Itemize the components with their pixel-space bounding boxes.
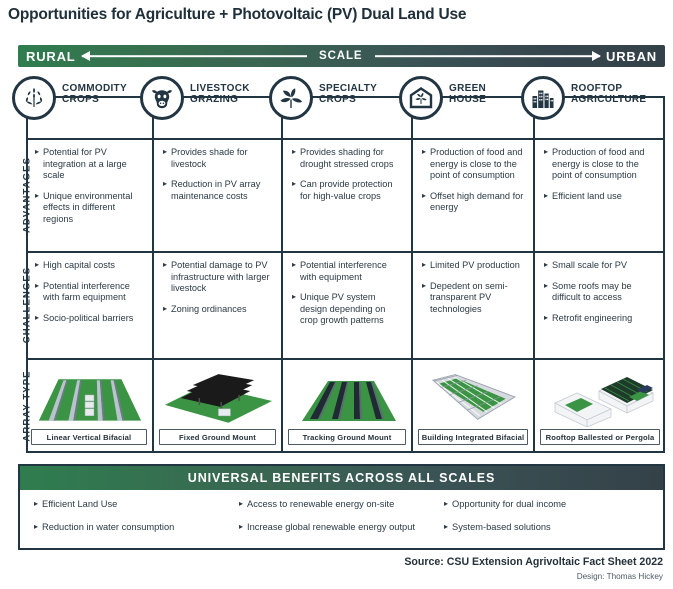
building-integrated-bifacial-thumb: [418, 365, 528, 427]
bullet: Zoning ordinances: [163, 304, 273, 316]
fixed-ground-mount-thumb: [159, 365, 276, 427]
bullet: Unique environmental effects in differen…: [35, 191, 144, 226]
cell-challenges-commodity-crops: High capital costs Potential interferenc…: [26, 253, 154, 358]
wheat-sheaf-icon: [12, 76, 56, 120]
cell-array-green-house: Building Integrated Bifacial: [413, 360, 535, 453]
column-header-commodity-crops[interactable]: COMMODITY CROPS: [26, 96, 154, 138]
bullet: Unique PV system design depending on cro…: [292, 292, 403, 327]
bullet: High capital costs: [35, 260, 144, 272]
bullet: Reduction in water consumption: [34, 522, 239, 534]
bullet: Potential for PV integration at a large …: [35, 147, 144, 182]
array-caption: Linear Vertical Bifacial: [31, 429, 147, 445]
column-header-green-house[interactable]: GREEN HOUSE: [413, 96, 535, 138]
cell-advantages-green-house: Production of food and energy is close t…: [413, 140, 535, 251]
bullet: Retrofit engineering: [544, 313, 657, 325]
bullet: Provides shade for livestock: [163, 147, 273, 170]
city-buildings-icon: [521, 76, 565, 120]
bullet: Access to renewable energy on-site: [239, 499, 444, 511]
column-label: GREEN HOUSE: [449, 84, 486, 106]
benefits-column-1: Efficient Land Use Reduction in water co…: [34, 499, 239, 544]
cell-advantages-specialty-crops: Provides shading for drought stressed cr…: [283, 140, 413, 251]
bullet: Potential interference with farm equipme…: [35, 281, 144, 304]
cell-advantages-commodity-crops: Potential for PV integration at a large …: [26, 140, 154, 251]
array-caption: Tracking Ground Mount: [288, 429, 406, 445]
bullet: Provides shading for drought stressed cr…: [292, 147, 403, 170]
array-caption: Rooftop Ballested or Pergola: [540, 429, 660, 445]
design-credit: Design: Thomas Hickey: [577, 572, 663, 581]
benefits-column-2: Access to renewable energy on-site Incre…: [239, 499, 444, 544]
bullet: Potential damage to PV infrastructure wi…: [163, 260, 273, 295]
column-headers: COMMODITY CROPS LIVESTOCK GRAZING: [26, 96, 665, 138]
bullet: Reduction in PV array maintenance costs: [163, 179, 273, 202]
bullet: Can provide protection for high-value cr…: [292, 179, 403, 202]
bullet: Small scale for PV: [544, 260, 657, 272]
column-label: ROOFTOP AGRICULTURE: [571, 84, 646, 106]
column-label: COMMODITY CROPS: [62, 84, 127, 106]
cell-array-rooftop-agriculture: Rooftop Ballested or Pergola: [535, 360, 665, 453]
greenhouse-icon: [399, 76, 443, 120]
cell-challenges-rooftop-agriculture: Small scale for PV Some roofs may be dif…: [535, 253, 665, 358]
linear-vertical-bifacial-thumb: [31, 365, 147, 427]
bullet: Opportunity for dual income: [444, 499, 649, 511]
bullet: Production of food and energy is close t…: [422, 147, 525, 182]
column-header-rooftop-agriculture[interactable]: ROOFTOP AGRICULTURE: [535, 96, 665, 138]
leaf-sprout-icon: [269, 76, 313, 120]
column-label: SPECIALTY CROPS: [319, 84, 377, 106]
cell-advantages-rooftop-agriculture: Production of food and energy is close t…: [535, 140, 665, 251]
bullet: Some roofs may be difficult to access: [544, 281, 657, 304]
arrow-left-icon: [82, 51, 308, 61]
page-title: Opportunities for Agriculture + Photovol…: [8, 6, 466, 24]
cell-advantages-livestock-grazing: Provides shade for livestock Reduction i…: [154, 140, 283, 251]
scale-center-label: SCALE: [313, 50, 368, 62]
bullet: Efficient Land Use: [34, 499, 239, 511]
universal-benefits-heading: UNIVERSAL BENEFITS ACROSS ALL SCALES: [20, 466, 663, 490]
cow-head-icon: [140, 76, 184, 120]
row-advantages: Potential for PV integration at a large …: [26, 138, 665, 251]
column-header-livestock-grazing[interactable]: LIVESTOCK GRAZING: [154, 96, 283, 138]
cell-challenges-green-house: Limited PV production Depedent on semi-t…: [413, 253, 535, 358]
array-caption: Fixed Ground Mount: [159, 429, 276, 445]
source-credit: Source: CSU Extension Agrivoltaic Fact S…: [404, 556, 663, 568]
bullet: Limited PV production: [422, 260, 525, 272]
arrow-right-icon: [375, 51, 601, 61]
universal-benefits-panel: UNIVERSAL BENEFITS ACROSS ALL SCALES Eff…: [18, 464, 665, 550]
scale-bar: RURAL SCALE URBAN: [18, 45, 665, 67]
cell-array-commodity-crops: Linear Vertical Bifacial: [26, 360, 154, 453]
benefits-column-3: Opportunity for dual income System-based…: [444, 499, 649, 544]
column-header-specialty-crops[interactable]: SPECIALTY CROPS: [283, 96, 413, 138]
bullet: Increase global renewable energy output: [239, 522, 444, 534]
bullet: Socio-political barriers: [35, 313, 144, 325]
array-caption: Building Integrated Bifacial: [418, 429, 528, 445]
column-label: LIVESTOCK GRAZING: [190, 84, 250, 106]
comparison-matrix: COMMODITY CROPS LIVESTOCK GRAZING: [18, 96, 665, 453]
row-array-type: Linear Vertical Bifacial: [26, 358, 665, 453]
bullet: Depedent on semi-transparent PV technolo…: [422, 281, 525, 316]
row-challenges: High capital costs Potential interferenc…: [26, 251, 665, 358]
bullet: Offset high demand for energy: [422, 191, 525, 214]
scale-right-label: URBAN: [606, 49, 657, 64]
rooftop-ballasted-pergola-thumb: [540, 365, 660, 427]
scale-left-label: RURAL: [26, 49, 76, 64]
cell-array-specialty-crops: Tracking Ground Mount: [283, 360, 413, 453]
universal-benefits-grid: Efficient Land Use Reduction in water co…: [20, 490, 663, 550]
cell-challenges-livestock-grazing: Potential damage to PV infrastructure wi…: [154, 253, 283, 358]
bullet: Production of food and energy is close t…: [544, 147, 657, 182]
bullet: System-based solutions: [444, 522, 649, 534]
tracking-ground-mount-thumb: [288, 365, 406, 427]
bullet: Efficient land use: [544, 191, 657, 203]
bullet: Potential interference with equipment: [292, 260, 403, 283]
cell-challenges-specialty-crops: Potential interference with equipment Un…: [283, 253, 413, 358]
cell-array-livestock-grazing: Fixed Ground Mount: [154, 360, 283, 453]
